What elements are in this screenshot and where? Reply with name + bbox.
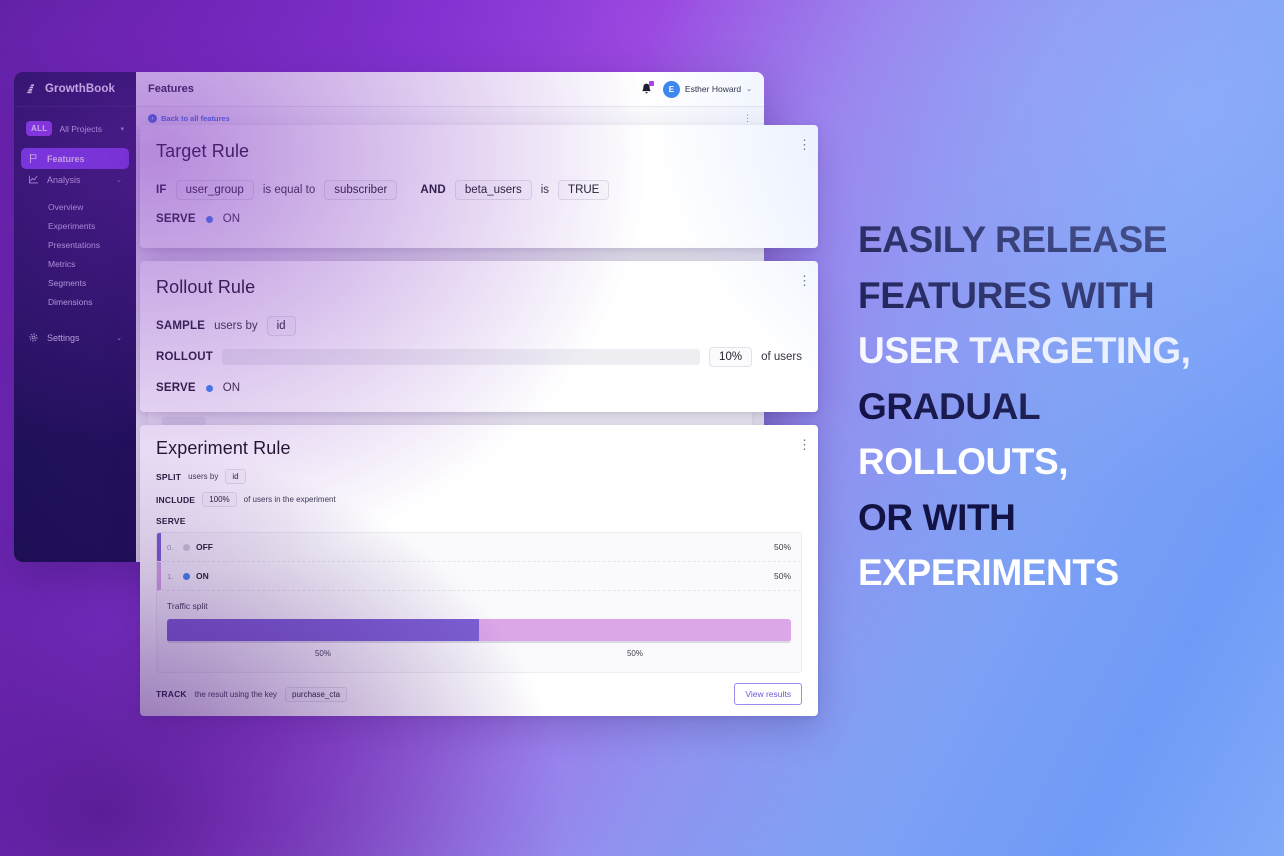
split-text: users by [188, 472, 218, 481]
traffic-split-section: Traffic split 50% 50% [157, 591, 801, 672]
status-dot-on-icon [206, 385, 213, 392]
split-label: SPLIT [156, 472, 181, 482]
brand: GrowthBook [14, 72, 136, 107]
variation-name-label: ON [196, 571, 209, 581]
and-label: AND [420, 184, 446, 196]
variation-name-label: OFF [196, 542, 213, 552]
serve-value: ON [223, 213, 240, 225]
traffic-split-title: Traffic split [167, 601, 791, 611]
split-attribute-pill[interactable]: id [225, 469, 245, 484]
flag-icon [28, 153, 39, 164]
sample-text: users by [214, 320, 257, 332]
card-title: Rollout Rule [156, 277, 255, 298]
status-dot-off-icon [183, 544, 190, 551]
kebab-menu-icon[interactable]: ⋮ [798, 141, 802, 149]
target-rule-card: Target Rule ⋮ IF user_group is equal to … [140, 125, 818, 248]
sidebar: GrowthBook ALL All Projects ▾ Features [14, 72, 136, 562]
sidebar-item-dimensions[interactable]: Dimensions [14, 292, 136, 311]
growthbook-logo-icon [24, 82, 38, 96]
headline-line: FEATURES WITH [858, 268, 1258, 324]
track-label: TRACK [156, 689, 187, 699]
gear-icon [28, 332, 39, 343]
user-name: Esther Howard [685, 84, 741, 94]
topbar-right: E Esther Howard ⌄ [640, 81, 752, 98]
sidebar-item-settings[interactable]: Settings ⌄ [21, 327, 129, 348]
value-pill[interactable]: subscriber [324, 180, 397, 200]
kebab-menu-icon[interactable]: ⋮ [743, 115, 752, 122]
rollout-serve-row: SERVE ON [156, 382, 240, 394]
project-selector[interactable]: ALL All Projects ▾ [22, 118, 128, 139]
sample-label: SAMPLE [156, 320, 205, 332]
notification-dot [649, 81, 654, 86]
rollout-slider[interactable] [222, 349, 700, 365]
serve-value: ON [223, 382, 240, 394]
track-key-pill[interactable]: purchase_cta [285, 687, 347, 702]
variation-name: ON [183, 571, 209, 581]
headline-line: ROLLOUTS, [858, 434, 1258, 490]
chart-line-icon [28, 174, 39, 185]
rollout-percent-input[interactable]: 10% [709, 347, 752, 367]
back-link-label: Back to all features [161, 114, 230, 123]
sidebar-item-analysis[interactable]: Analysis ⌄ [21, 169, 129, 190]
status-dot-on-icon [206, 216, 213, 223]
sidebar-item-metrics[interactable]: Metrics [14, 254, 136, 273]
attribute2-pill[interactable]: beta_users [455, 180, 532, 200]
traffic-split-segment-a [167, 619, 479, 641]
operator-label: is equal to [263, 184, 315, 196]
project-badge: ALL [26, 121, 52, 136]
experiment-track-row: TRACK the result using the key purchase_… [156, 683, 802, 705]
operator2-label: is [541, 184, 549, 196]
serve-label: SERVE [156, 213, 196, 225]
rollout-rule-card: Rollout Rule ⋮ SAMPLE users by id ROLLOU… [140, 261, 818, 412]
headline: EASILY RELEASE FEATURES WITH USER TARGET… [858, 212, 1258, 601]
promo-banner: GrowthBook ALL All Projects ▾ Features [0, 0, 1284, 856]
traffic-split-labels: 50% 50% [167, 649, 791, 658]
sidebar-subnav: Overview Experiments Presentations Metri… [14, 197, 136, 311]
view-results-button[interactable]: View results [734, 683, 802, 705]
sidebar-item-label: Analysis [47, 175, 81, 185]
chevron-down-icon: ⌄ [116, 334, 122, 342]
experiment-rule-card: Experiment Rule ⋮ SPLIT users by id INCL… [140, 425, 818, 716]
sample-attribute-pill[interactable]: id [267, 316, 296, 336]
traffic-split-segment-b [479, 619, 791, 641]
back-to-all-features-link[interactable]: ‹ Back to all features [148, 114, 230, 123]
status-dot-on-icon [183, 573, 190, 580]
sidebar-item-label: Settings [47, 333, 80, 343]
variation-row[interactable]: 1. ON 50% [157, 562, 801, 591]
rollout-suffix: of users [761, 351, 802, 363]
notification-bell-icon[interactable] [640, 82, 653, 96]
back-arrow-circle-icon: ‹ [148, 114, 157, 123]
sidebar-item-label: Features [47, 154, 85, 164]
variation-name: OFF [183, 542, 213, 552]
rollout-slider-row: ROLLOUT 10% of users [156, 347, 802, 367]
target-condition-row: IF user_group is equal to subscriber AND… [156, 180, 609, 200]
variation-accent-bar [157, 562, 161, 590]
sidebar-item-presentations[interactable]: Presentations [14, 235, 136, 254]
headline-line: EASILY RELEASE [858, 212, 1258, 268]
headline-line: EXPERIMENTS [858, 545, 1258, 601]
user-menu[interactable]: E Esther Howard ⌄ [663, 81, 752, 98]
value2-pill[interactable]: TRUE [558, 180, 609, 200]
include-label: INCLUDE [156, 495, 195, 505]
attribute-pill[interactable]: user_group [176, 180, 254, 200]
variation-percent: 50% [774, 571, 791, 581]
sidebar-item-experiments[interactable]: Experiments [14, 216, 136, 235]
include-text: of users in the experiment [244, 495, 336, 504]
sidebar-item-overview[interactable]: Overview [14, 197, 136, 216]
chevron-down-icon: ⌄ [746, 85, 752, 93]
serve-label: SERVE [156, 382, 196, 394]
traffic-split-label: 50% [167, 649, 479, 658]
variations-box: 0. OFF 50% 1. ON 50% Traffic split [156, 532, 802, 673]
experiment-include-row: INCLUDE 100% of users in the experiment [156, 492, 336, 507]
sidebar-nav: Features Analysis ⌄ Overview [14, 148, 136, 348]
variation-percent: 50% [774, 542, 791, 552]
brand-name: GrowthBook [45, 83, 115, 95]
topbar: Features E Esther Howard ⌄ [136, 72, 764, 107]
page-title: Features [148, 83, 194, 95]
headline-line: OR WITH [858, 490, 1258, 546]
headline-line: GRADUAL [858, 379, 1258, 435]
track-text: the result using the key [195, 690, 277, 699]
card-title: Target Rule [156, 141, 249, 162]
if-label: IF [156, 184, 167, 196]
rollout-sample-row: SAMPLE users by id [156, 316, 296, 336]
sidebar-item-segments[interactable]: Segments [14, 273, 136, 292]
kebab-menu-icon[interactable]: ⋮ [798, 441, 802, 449]
sidebar-item-features[interactable]: Features [21, 148, 129, 169]
chevron-down-icon: ▾ [120, 125, 124, 133]
target-serve-row: SERVE ON [156, 213, 240, 225]
include-percent-input[interactable]: 100% [202, 492, 236, 507]
variation-accent-bar [157, 533, 161, 561]
rollout-label: ROLLOUT [156, 351, 213, 363]
chevron-down-icon: ⌄ [116, 176, 122, 184]
project-label: All Projects [59, 124, 113, 134]
kebab-menu-icon[interactable]: ⋮ [798, 277, 802, 285]
variation-row[interactable]: 0. OFF 50% [157, 533, 801, 562]
avatar: E [663, 81, 680, 98]
traffic-split-bar[interactable] [167, 619, 791, 643]
spacer [14, 311, 136, 327]
traffic-split-label: 50% [479, 649, 791, 658]
headline-line: USER TARGETING, [858, 323, 1258, 379]
card-title: Experiment Rule [156, 438, 291, 459]
experiment-split-row: SPLIT users by id [156, 469, 246, 484]
serve-label: SERVE [156, 516, 186, 526]
